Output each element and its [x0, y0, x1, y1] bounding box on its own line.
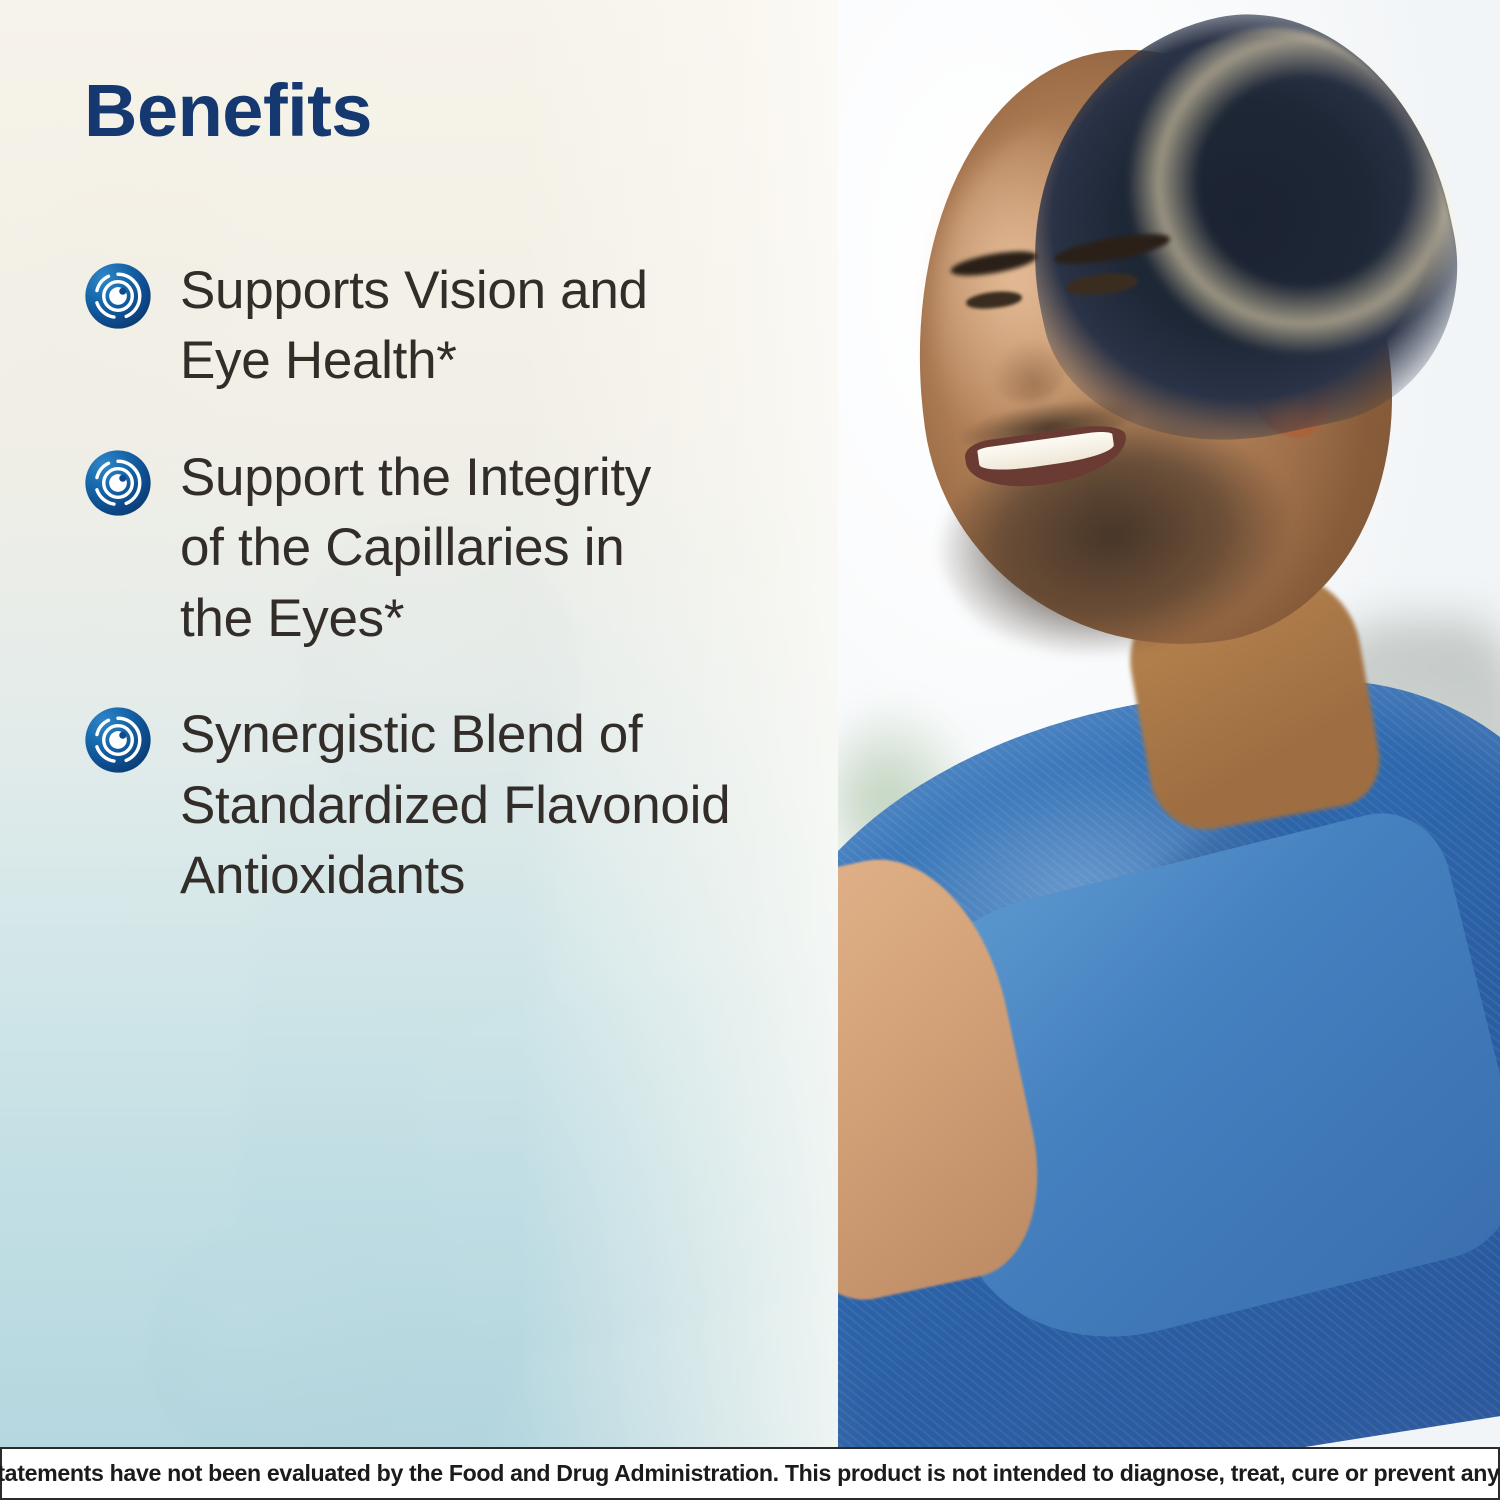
list-item: Synergistic Blend of Standardized Flavon…	[84, 700, 784, 911]
hero-photo	[838, 0, 1500, 1447]
list-item: Supports Vision and Eye Health*	[84, 256, 784, 397]
list-item-label: Support the Integrity of the Capillaries…	[180, 443, 700, 654]
eye-badge-icon	[84, 449, 152, 517]
eye-badge-icon	[84, 262, 152, 330]
page-title: Benefits	[84, 74, 372, 148]
benefits-list: Supports Vision and Eye Health*	[84, 256, 784, 912]
benefits-panel: Benefits	[0, 0, 838, 1447]
fda-disclaimer-bar: *These statements have not been evaluate…	[0, 1447, 1500, 1500]
list-item-label: Synergistic Blend of Standardized Flavon…	[180, 700, 750, 911]
list-item: Support the Integrity of the Capillaries…	[84, 443, 784, 654]
product-benefits-graphic: Benefits	[0, 0, 1500, 1500]
eye-badge-icon	[84, 706, 152, 774]
benefits-content: Benefits	[0, 0, 838, 1447]
list-item-label: Supports Vision and Eye Health*	[180, 256, 740, 397]
fda-disclaimer-text: *These statements have not been evaluate…	[0, 1460, 1500, 1487]
